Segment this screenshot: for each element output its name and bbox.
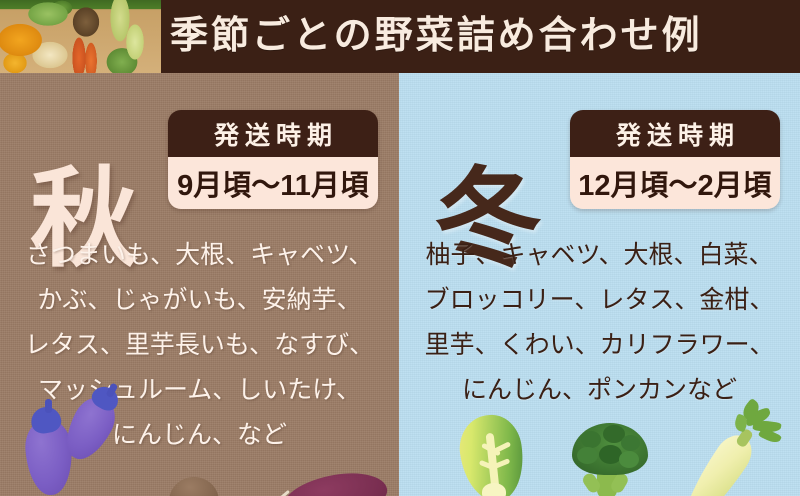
list-item: さつまいも、大根、キャベツ、	[0, 233, 399, 278]
shipping-period-badge-winter: 発送時期 12月頃〜2月頃	[570, 110, 780, 209]
daikon-radish-icon	[677, 407, 789, 496]
shipping-period-value: 12月頃〜2月頃	[570, 157, 780, 209]
list-item: 里芋、くわい、カリフラワー、	[399, 323, 800, 368]
shipping-period-value: 9月頃〜11月頃	[168, 157, 378, 209]
page-title: 季節ごとの野菜詰め合わせ例	[170, 10, 785, 62]
seasonal-vegetable-infographic: 季節ごとの野菜詰め合わせ例 秋 発送時期 9月頃〜11月頃 さつまいも、大根、キ…	[0, 0, 800, 496]
list-item: かぶ、じゃがいも、安納芋、	[0, 278, 399, 323]
sweet-potato-icon	[272, 461, 399, 496]
vegetable-list-winter: 柚子、キャベツ、大根、白菜、 ブロッコリー、レタス、金柑、 里芋、くわい、カリフ…	[399, 233, 800, 413]
mushroom-icon	[164, 477, 224, 496]
vegetable-box-photo	[0, 0, 161, 73]
header-bar: 季節ごとの野菜詰め合わせ例	[0, 0, 800, 73]
list-item: レタス、里芋長いも、なすび、	[0, 323, 399, 368]
napa-cabbage-icon	[457, 413, 529, 496]
list-item: ブロッコリー、レタス、金柑、	[399, 278, 800, 323]
panel-autumn: 秋 発送時期 9月頃〜11月頃 さつまいも、大根、キャベツ、 かぶ、じゃがいも、…	[0, 73, 399, 496]
shipping-period-badge-autumn: 発送時期 9月頃〜11月頃	[168, 110, 378, 209]
broccoli-icon	[567, 421, 655, 496]
panel-winter: 冬 発送時期 12月頃〜2月頃 柚子、キャベツ、大根、白菜、 ブロッコリー、レタ…	[399, 73, 800, 496]
shipping-period-label: 発送時期	[570, 110, 780, 157]
list-item: 柚子、キャベツ、大根、白菜、	[399, 233, 800, 278]
shipping-period-label: 発送時期	[168, 110, 378, 157]
